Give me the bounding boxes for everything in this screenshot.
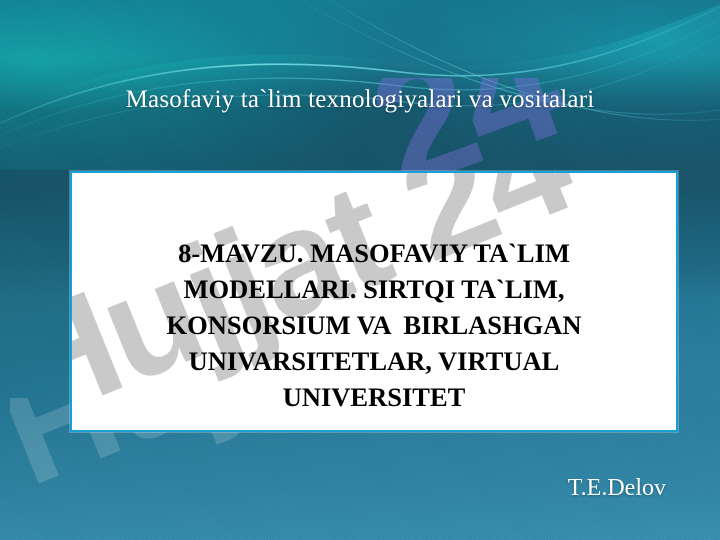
slide-header-title: Masofaviy ta`lim texnologiyalari va vosi… (0, 85, 720, 115)
main-title: 8-MAVZU. MASOFAVIY TA`LIM MODELLARI. SIR… (72, 235, 676, 415)
title-content-box: Hujjat 24 8-MAVZU. MASOFAVIY TA`LIM MODE… (70, 171, 678, 432)
title-line: UNIVARSITETLAR, VIRTUAL (90, 343, 658, 379)
title-line: 8-MAVZU. MASOFAVIY TA`LIM (90, 235, 658, 271)
author-name: T.E.Delov (568, 474, 666, 502)
title-line: UNIVERSITET (90, 379, 658, 415)
title-line: KONSORSIUM VA BIRLASHGAN (90, 307, 658, 343)
presentation-slide: 24 Hujjat 24 Masofaviy ta`lim texnologiy… (0, 0, 720, 540)
title-line: MODELLARI. SIRTQI TA`LIM, (90, 271, 658, 307)
